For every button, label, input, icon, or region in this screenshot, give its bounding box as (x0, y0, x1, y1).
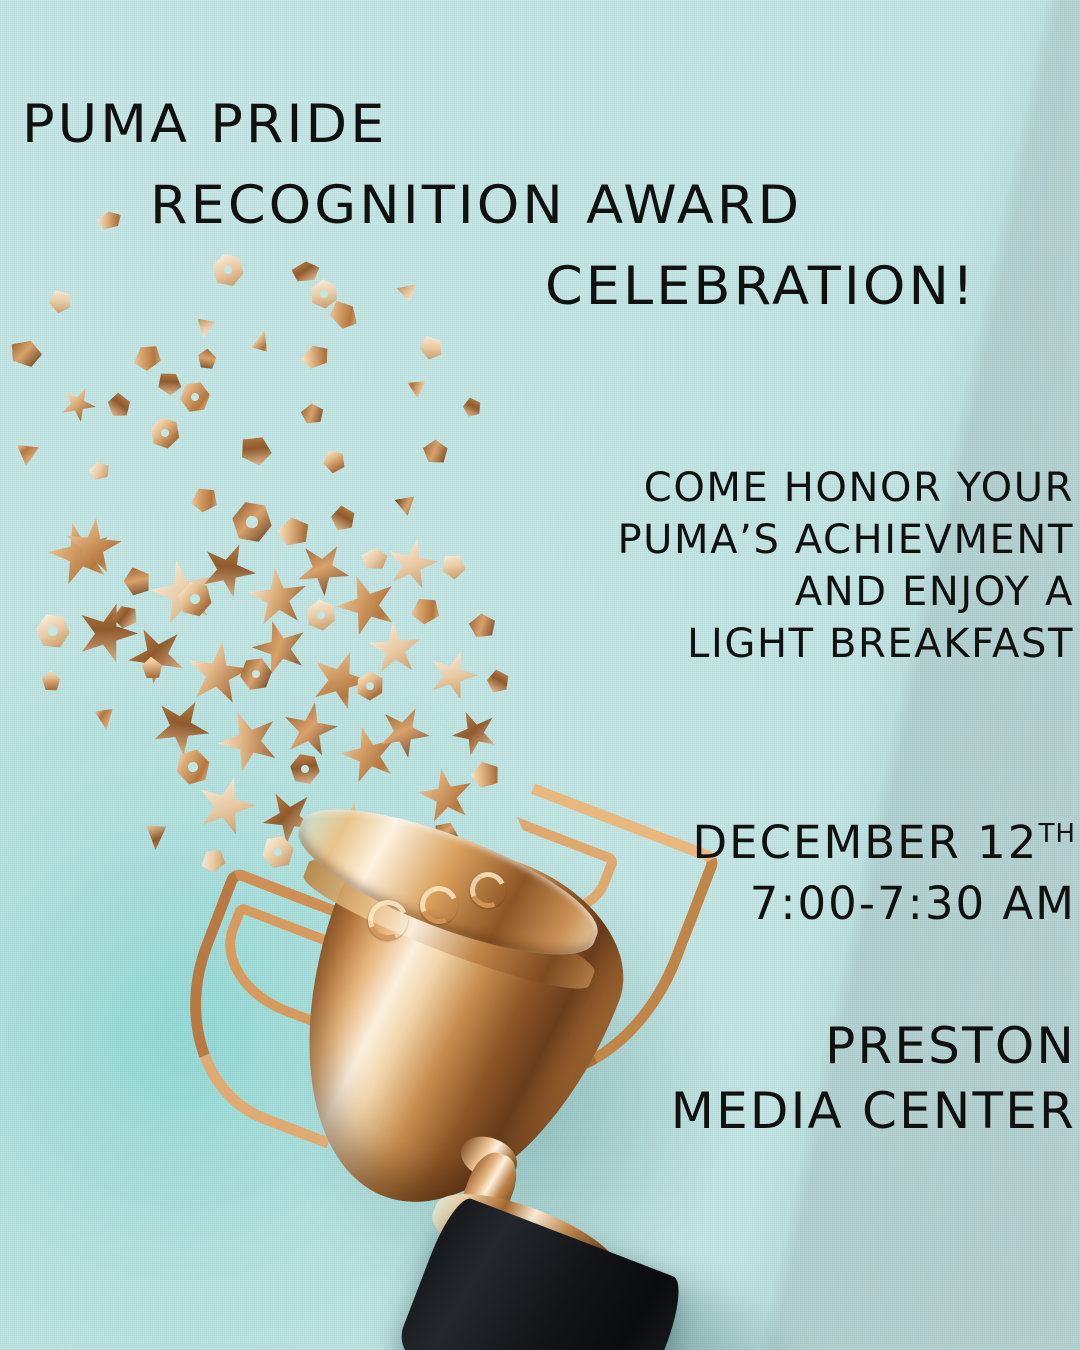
description-line-4: LIGHT BREAKFAST (514, 618, 1074, 670)
title-line-2: RECOGNITION AWARD (150, 179, 1080, 232)
page-title: PUMA PRIDE RECOGNITION AWARD CELEBRATION… (0, 98, 1080, 313)
description-line-1: COME HONOR YOUR (514, 462, 1074, 514)
confetti-shard (297, 401, 326, 427)
confetti-star (445, 703, 506, 764)
confetti-shard (103, 388, 135, 422)
confetti-shard (85, 458, 113, 484)
confetti-shard (358, 546, 389, 573)
confetti-star (381, 533, 443, 595)
event-date: DECEMBER 12TH (516, 812, 1076, 873)
confetti-shard (194, 345, 219, 372)
confetti-shard (407, 381, 426, 398)
confetti-shard (420, 438, 450, 467)
confetti-shard (6, 338, 43, 368)
confetti-shard (297, 340, 334, 374)
confetti-shard (459, 394, 486, 421)
confetti-shard (405, 591, 445, 630)
confetti-sequin (229, 499, 275, 545)
event-description: COME HONOR YOUR PUMA’S ACHIEVMENT AND EN… (514, 462, 1074, 670)
confetti-star (366, 620, 424, 678)
confetti-sequin (178, 380, 212, 414)
confetti-shard (252, 328, 273, 352)
confetti-shard (38, 667, 64, 695)
description-line-2: PUMA’S ACHIEVMENT (514, 514, 1074, 566)
event-date-text: DECEMBER 12 (693, 816, 1039, 869)
event-time: 7:00-7:30 AM (516, 873, 1076, 934)
event-date-time: DECEMBER 12TH 7:00-7:30 AM (516, 812, 1076, 934)
confetti-sequin (351, 667, 389, 705)
confetti-shard (395, 496, 418, 517)
confetti-shard (15, 445, 39, 467)
confetti-shard (235, 432, 275, 467)
confetti-star (278, 698, 343, 763)
location-line-1: PRESTON (456, 1014, 1076, 1079)
confetti-shard (153, 368, 185, 398)
location-line-2: MEDIA CENTER (456, 1079, 1076, 1144)
confetti-shard (326, 500, 361, 535)
event-location: PRESTON MEDIA CENTER (456, 1014, 1076, 1144)
confetti-sequin (288, 752, 323, 787)
confetti-sequin (301, 595, 340, 634)
poster-canvas: PUMA PRIDE RECOGNITION AWARD CELEBRATION… (0, 0, 1080, 1350)
title-line-3: CELEBRATION! (545, 260, 1080, 313)
confetti-star (41, 515, 119, 593)
confetti-shard (414, 330, 448, 364)
confetti-shard (482, 665, 514, 698)
confetti-star (421, 643, 484, 706)
confetti-star (245, 565, 311, 631)
confetti-sequin (146, 414, 184, 452)
description-line-3: AND ENJOY A (514, 566, 1074, 618)
confetti-shard (186, 482, 223, 518)
confetti-shard (437, 550, 470, 581)
confetti-shard (128, 339, 166, 377)
confetti-shard (146, 826, 167, 851)
confetti-star (54, 380, 102, 428)
confetti-sequin (238, 656, 274, 692)
confetti-shard (95, 709, 116, 731)
confetti-shard (318, 445, 350, 477)
confetti-sequin (172, 746, 214, 788)
confetti-shard (117, 561, 157, 601)
event-date-ordinal: TH (1038, 819, 1076, 849)
confetti-sequin (34, 612, 71, 649)
confetti-shard (465, 610, 499, 641)
title-line-1: PUMA PRIDE (22, 98, 1080, 151)
confetti-star (209, 701, 290, 782)
confetti-star (118, 616, 196, 694)
confetti-shard (195, 319, 216, 340)
confetti-shard (466, 756, 505, 793)
confetti-shard (272, 513, 314, 552)
